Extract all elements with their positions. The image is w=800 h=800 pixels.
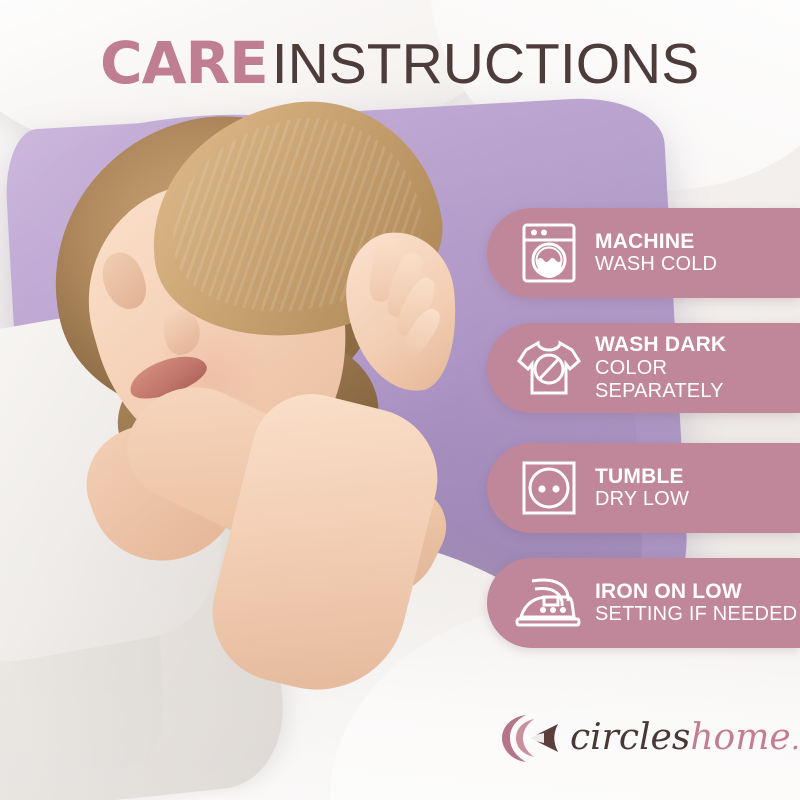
care-pill-line2: DRY LOW	[595, 488, 689, 511]
care-pill-line2: COLOR SEPARATELY	[595, 357, 800, 403]
care-pill-text: WASH DARK COLOR SEPARATELY	[595, 333, 800, 402]
care-pill-text: IRON ON LOW SETTING IF NEEDED	[595, 580, 797, 626]
page-title: CAREINSTRUCTIONS	[100, 34, 699, 93]
care-pill-line1: TUMBLE	[595, 465, 689, 488]
care-pill-line2: SETTING IF NEEDED	[595, 603, 797, 626]
care-pill-machine-wash: MACHINE WASH COLD	[487, 208, 800, 298]
tumble-dry-icon	[513, 460, 585, 516]
care-instructions-infographic: CAREINSTRUCTIONS MACHINE WASH COLD	[0, 0, 800, 800]
tshirt-no-icon	[513, 339, 585, 397]
care-pill-iron: IRON ON LOW SETTING IF NEEDED	[487, 558, 800, 648]
care-pill-tumble-dry: TUMBLE DRY LOW	[487, 443, 800, 533]
care-pill-wash-dark: WASH DARK COLOR SEPARATELY	[487, 323, 800, 413]
brand-name: circleshome.	[570, 720, 800, 756]
iron-icon	[513, 575, 585, 631]
brand-trademark: .	[791, 722, 800, 757]
title-accent: CARE	[100, 29, 268, 97]
brand-name-part2: home	[690, 717, 790, 758]
care-pill-text: TUMBLE DRY LOW	[595, 465, 689, 511]
care-pill-line1: MACHINE	[595, 230, 717, 253]
brand-name-part1: circles	[570, 717, 690, 758]
washing-machine-icon	[513, 222, 585, 284]
care-pill-line2: WASH COLD	[595, 253, 717, 276]
title-rest: INSTRUCTIONS	[272, 32, 700, 96]
care-pill-text: MACHINE WASH COLD	[595, 230, 717, 276]
care-pill-line1: IRON ON LOW	[595, 580, 797, 603]
brand-logo: circleshome.	[500, 712, 800, 764]
circles-swirl-logo-icon	[500, 712, 562, 764]
care-pill-line1: WASH DARK	[595, 333, 800, 356]
